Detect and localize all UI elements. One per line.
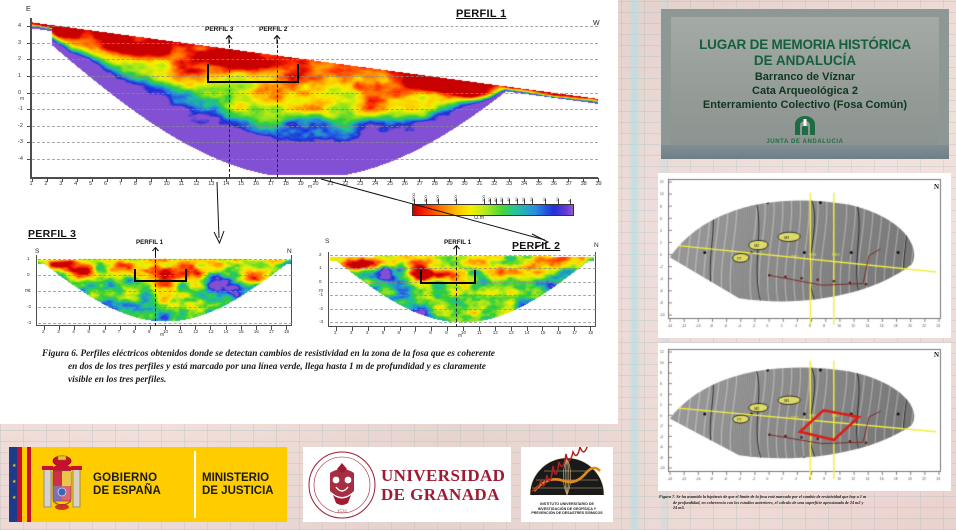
- perfil2-y-unit: m: [319, 288, 323, 294]
- contour-map-bottom: N: [658, 343, 951, 491]
- perfil3-panel: PERFIL 3 S N PERFIL 1 10-1-2-3 234567891…: [14, 228, 304, 342]
- ugr-seal-icon: 1531: [303, 449, 381, 521]
- figure7-caption-lead: Figura 7.: [659, 494, 675, 499]
- logo-divider: [194, 451, 196, 518]
- perfil2-crossing-arrow: [451, 244, 463, 255]
- slide-root: PERFIL 1 E W 43210-1-2-3-4 1234567891011…: [0, 0, 956, 530]
- spain-coat-of-arms-icon: [31, 447, 93, 522]
- iag-line3: PREVENCIÓN DE DESASTRES SÍSMICOS: [531, 511, 602, 516]
- contour-map-top: N: [658, 173, 951, 338]
- perfil3-marker-perfil1: PERFIL 1: [136, 239, 163, 246]
- perfil2-compass-south: S: [325, 238, 329, 245]
- map-bottom-north-icon: N: [934, 351, 939, 359]
- perfil1-compass-east: E: [26, 6, 31, 13]
- perfil1-crossing-arrows: [222, 34, 286, 46]
- gobierno-de-espana-logo: ★ ★ ★: [9, 447, 287, 522]
- figure6-caption-lead: Figura 6.: [42, 349, 78, 359]
- sign-line4: Cata Arqueológica 2: [671, 85, 939, 97]
- perfil1-anomaly-bracket: [207, 64, 299, 83]
- perfil2-panel: PERFIL 2 S N PERFIL 1 210-1-2-3 23456789…: [316, 228, 612, 342]
- perfil3-tomogram: [38, 255, 292, 325]
- sign-line1: LUGAR DE MEMORIA HISTÓRICA: [671, 37, 939, 52]
- perfil1-crossline-perfil2: [277, 40, 278, 177]
- perfil2-title: PERFIL 2: [512, 240, 560, 252]
- perfil1-tomogram: [32, 18, 598, 176]
- perfil2-y-axis-right: [595, 252, 596, 327]
- ministerio-line2: DE JUSTICIA: [202, 485, 274, 498]
- iag-line1: INSTITUTO UNIVERSITARIO DE: [531, 502, 602, 507]
- figure6-page: PERFIL 1 E W 43210-1-2-3-4 1234567891011…: [0, 0, 618, 424]
- figure7-caption-line3: 24 m3.: [673, 505, 951, 511]
- memorial-sign-photo: LUGAR DE MEMORIA HISTÓRICA DE ANDALUCÍA …: [661, 9, 949, 159]
- perfil3-x-unit: m: [160, 332, 164, 338]
- figure6-caption-line3: visible en los tres perfiles.: [68, 374, 616, 387]
- junta-andalucia-icon: [793, 115, 817, 137]
- perfil1-panel: PERFIL 1 E W 43210-1-2-3-4 1234567891011…: [8, 4, 608, 200]
- figure6-caption: Figura 6. Perfiles eléctricos obtenidos …: [42, 348, 616, 388]
- perfil2-y-axis: [328, 252, 329, 327]
- seismic-globe-icon: [522, 447, 612, 502]
- figure7-caption: Figura 7. Se ha asumido la hipótesis de …: [659, 494, 951, 511]
- figure7-caption-line1: Se ha asumido la hipótesis de que el lím…: [675, 494, 866, 499]
- perfil2-anomaly-bracket: [420, 270, 476, 284]
- perfil3-anomaly-bracket: [134, 269, 187, 282]
- iag-label: INSTITUTO UNIVERSITARIO DE INVESTIGACIÓN…: [531, 502, 602, 516]
- perfil3-crossline-perfil1: [155, 255, 156, 326]
- right-column: LUGAR DE MEMORIA HISTÓRICA DE ANDALUCÍA …: [653, 0, 956, 530]
- perfil2-compass-north: N: [594, 242, 599, 249]
- perfil1-marker-perfil2: PERFIL 2: [259, 26, 287, 33]
- ministerio-label: MINISTERIO DE JUSTICIA: [202, 447, 274, 522]
- sign-line3: Barranco de Víznar: [671, 71, 939, 83]
- ministerio-line1: MINISTERIO: [202, 472, 274, 485]
- map-top-north-icon: N: [934, 183, 939, 191]
- perfil2-crossline-perfil1: [456, 252, 457, 327]
- iag-logo: INSTITUTO UNIVERSITARIO DE INVESTIGACIÓN…: [521, 447, 613, 522]
- sign-photo-foreground: [661, 145, 949, 159]
- figure6-caption-line1: Perfiles eléctricos obtenidos donde se d…: [78, 349, 495, 359]
- sign-plate: LUGAR DE MEMORIA HISTÓRICA DE ANDALUCÍA …: [671, 17, 939, 151]
- svg-text:1531: 1531: [337, 509, 348, 515]
- perfil3-compass-south: S: [35, 248, 39, 255]
- figure6-caption-line2: en dos de los tres perfiles y está marca…: [68, 361, 616, 374]
- sign-line2: DE ANDALUCÍA: [671, 53, 939, 68]
- logo-bar: ★ ★ ★: [0, 430, 618, 530]
- perfil2-tomogram: [330, 252, 594, 326]
- perfil3-y-unit: m: [25, 288, 29, 294]
- perfil2-x-unit: m: [458, 333, 462, 339]
- perfil1-y-unit: m: [20, 96, 24, 102]
- wall-pipe-decoration: [628, 0, 641, 530]
- sign-line5: Enterramiento Colectivo (Fosa Común): [671, 99, 939, 111]
- spain-flag-icon: ★ ★ ★: [9, 447, 31, 522]
- universidad-de-granada-logo: 1531 UNIVERSIDAD DE GRANADA: [303, 447, 511, 522]
- perfil3-title: PERFIL 3: [28, 228, 76, 240]
- perfil3-compass-north: N: [287, 248, 292, 255]
- perfil1-marker-perfil3: PERFIL 3: [205, 26, 233, 33]
- perfil3-crossing-arrow: [150, 246, 162, 257]
- ugr-line2: DE GRANADA: [381, 485, 505, 504]
- perfil1-crossline-perfil3: [229, 40, 230, 177]
- ugr-line1: UNIVERSIDAD: [381, 466, 505, 485]
- ugr-label: UNIVERSIDAD DE GRANADA: [381, 466, 505, 504]
